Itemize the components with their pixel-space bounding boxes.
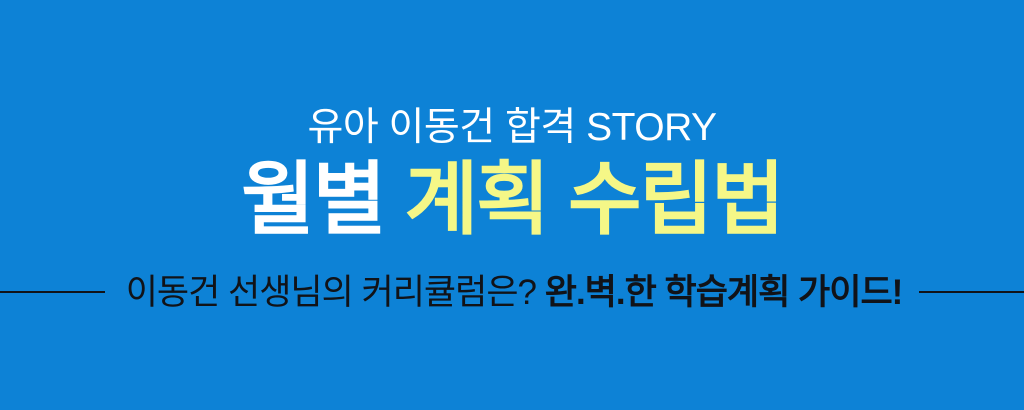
subtitle-bold-part: 완.벽.한 학습계획 가이드! [545,273,903,312]
divider-rule-right [919,291,1024,293]
promo-banner: 유아 이동건 합격 STORY 월별 계획 수립법 이동건 선생님의 커리큘럼은… [0,0,1024,410]
eyebrow-text: 유아 이동건 합격 STORY [0,108,1024,147]
divider-rule-left [0,291,105,293]
subtitle-row: 이동건 선생님의 커리큘럼은? 완.벽.한 학습계획 가이드! [0,268,1024,316]
headline-white-part: 월별 [241,155,384,244]
subtitle-regular-part: 이동건 선생님의 커리큘럼은? [126,273,536,312]
headline: 월별 계획 수립법 [0,160,1024,240]
headline-yellow-part: 계획 수립법 [405,155,783,244]
subtitle-text: 이동건 선생님의 커리큘럼은? 완.벽.한 학습계획 가이드! [126,275,903,310]
